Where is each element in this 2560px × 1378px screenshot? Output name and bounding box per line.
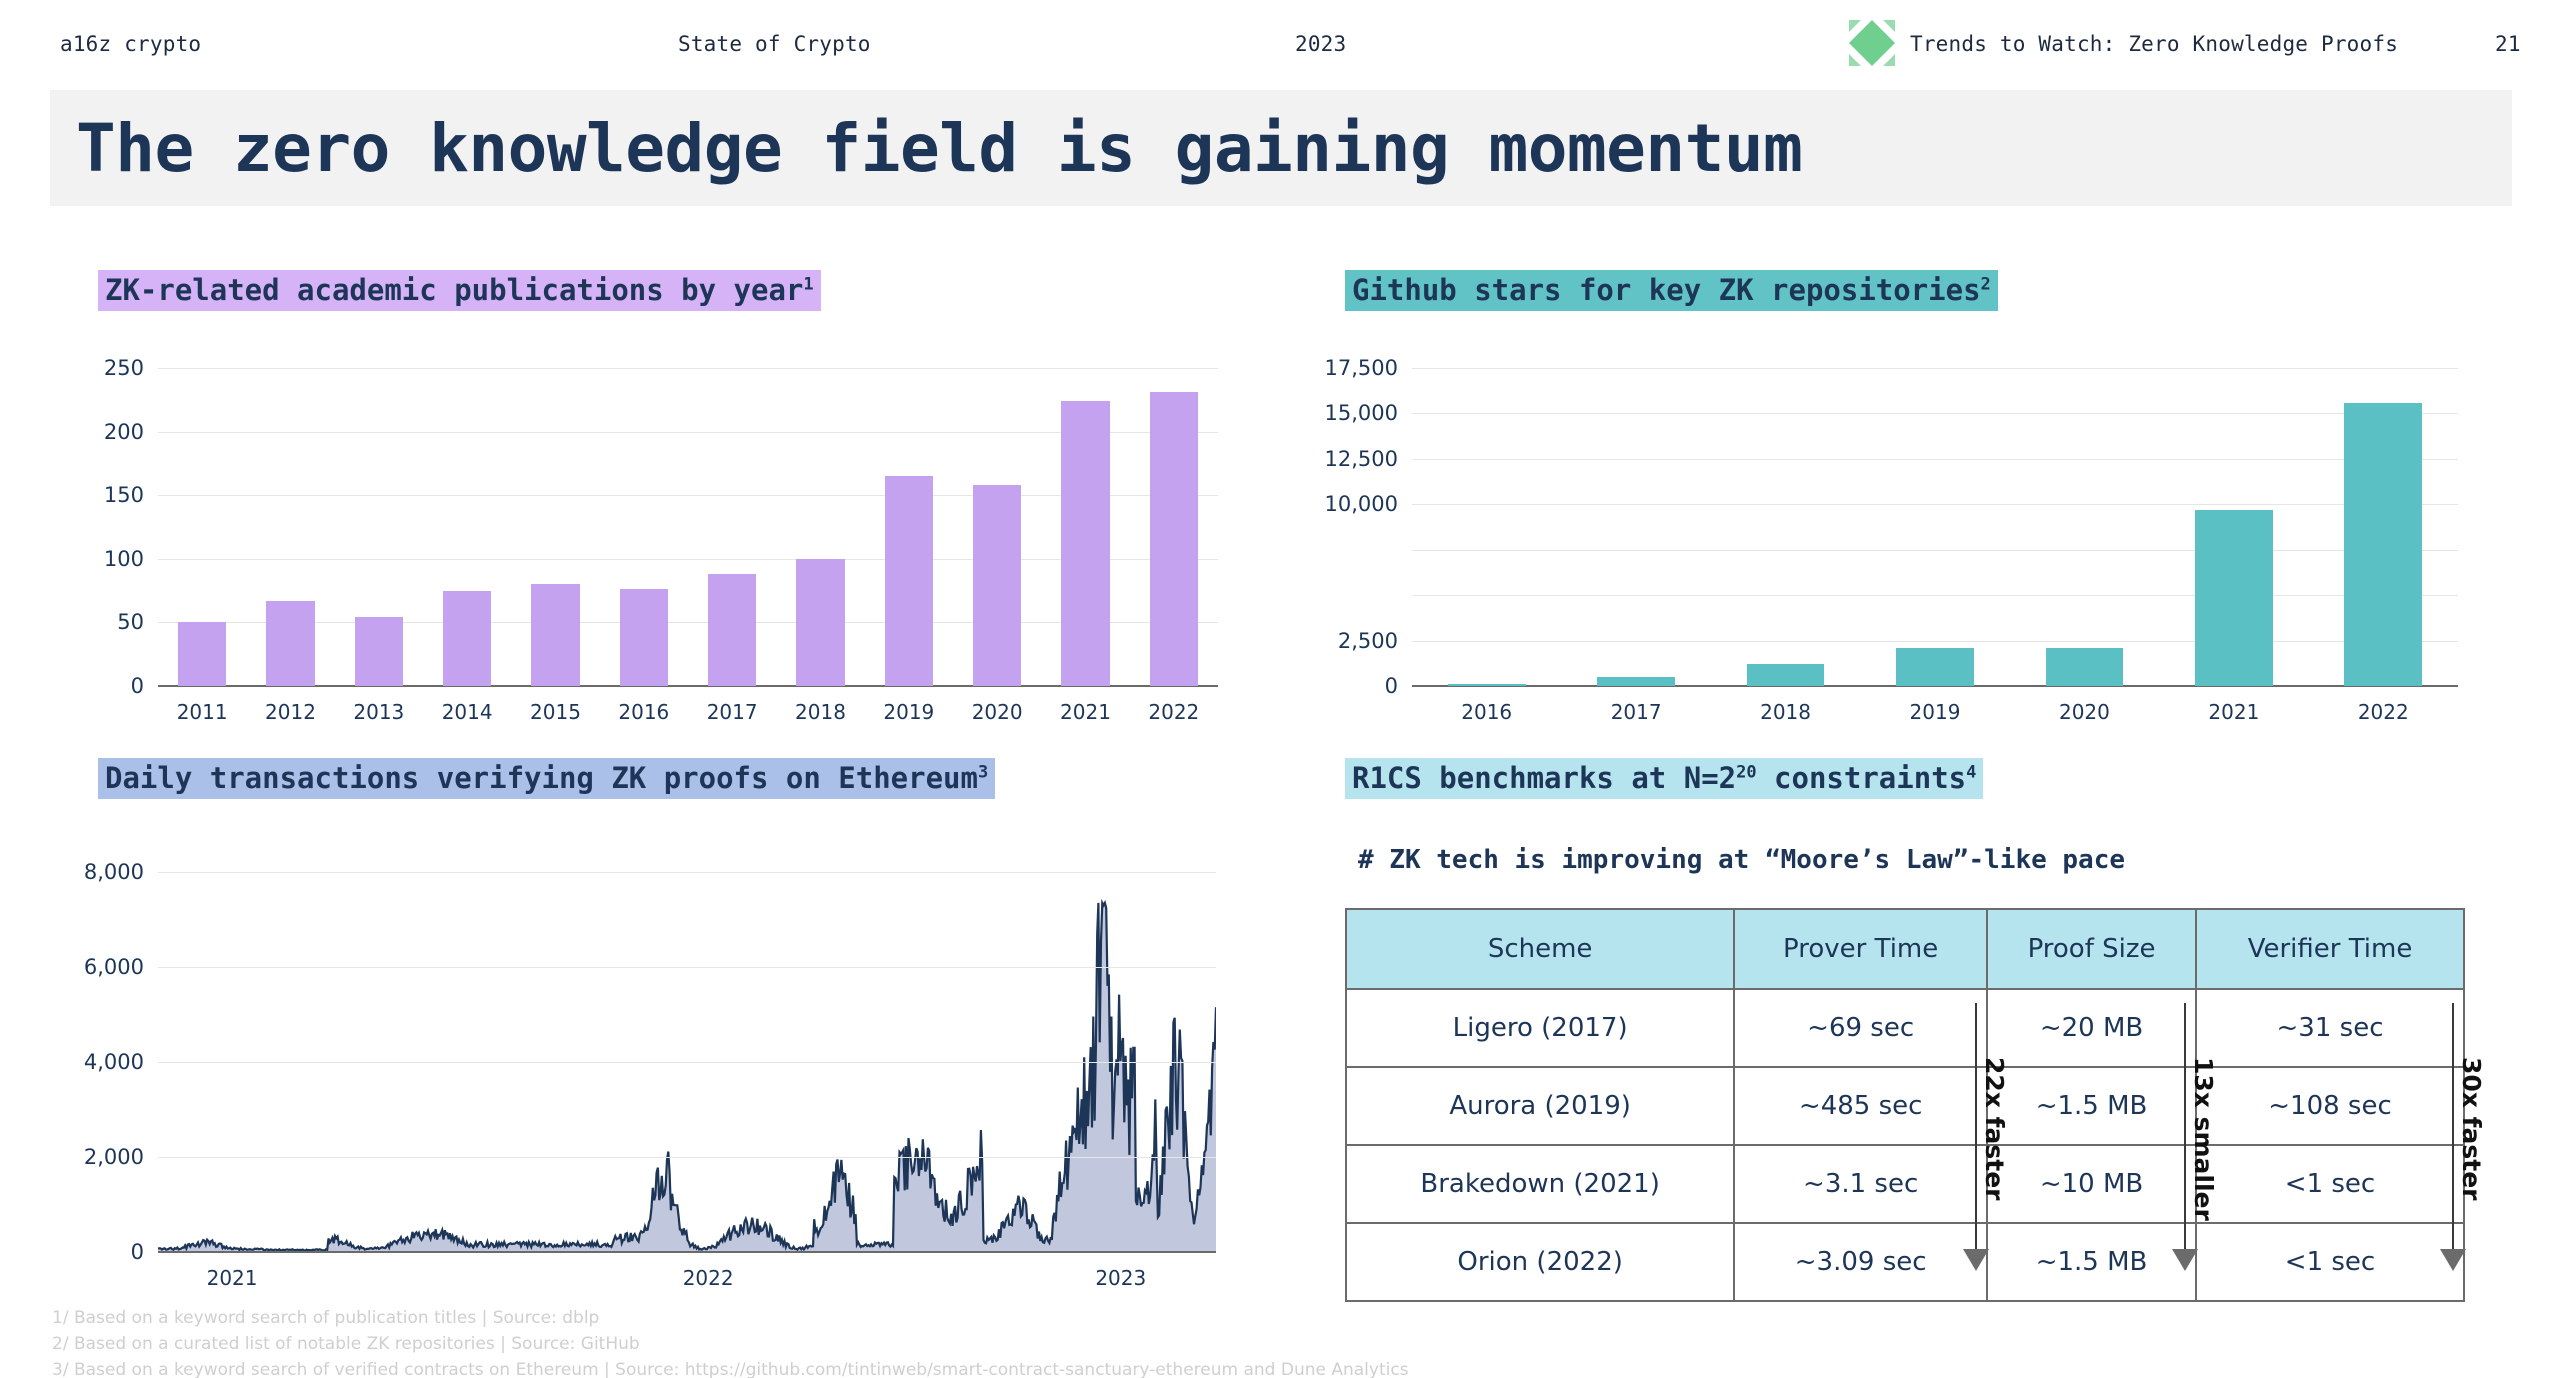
benchmark-table-body: Ligero (2017) ~69 sec ~20 MB ~31 sec Aur…	[1346, 989, 2464, 1301]
y-axis-tick-label: 250	[104, 356, 144, 380]
footnote-1: 1/ Based on a keyword search of publicat…	[52, 1306, 2512, 1332]
bar-2021	[1061, 401, 1110, 686]
gridline	[158, 872, 1216, 873]
bar-2019	[1896, 648, 1974, 686]
y-axis-tick-label: 0	[1385, 674, 1398, 698]
bar-2014	[443, 591, 492, 686]
footnote-marker-2: 2	[1981, 274, 1991, 294]
cell-proof-size: ~20 MB	[1987, 989, 2196, 1067]
bar-2016	[1448, 684, 1526, 686]
table-row: Ligero (2017) ~69 sec ~20 MB ~31 sec	[1346, 989, 2464, 1067]
cell-proof-size: ~1.5 MB	[1987, 1067, 2196, 1145]
cell-verifier-time: ~31 sec	[2196, 989, 2464, 1067]
x-axis-tick-label: 2023	[1095, 1266, 1146, 1290]
y-axis-tick-label: 2,500	[1338, 629, 1398, 653]
cell-proof-size: ~10 MB	[1987, 1145, 2196, 1223]
x-axis-line	[158, 685, 1218, 687]
table-caption: # ZK tech is improving at “Moore’s Law”-…	[1358, 845, 2125, 875]
gridline	[1412, 595, 2458, 596]
x-axis-tick-label: 2021	[207, 1266, 258, 1290]
plot-area-github-stars: 02,50010,00012,50015,00017,5002016201720…	[1412, 368, 2458, 686]
gridline	[158, 559, 1218, 560]
x-axis-tick-label: 2020	[972, 700, 1023, 724]
panel-title-r1cs-benchmarks: R1CS benchmarks at N=220 constraints4	[1345, 758, 1983, 799]
footnote-marker-3: 3	[978, 762, 988, 782]
table-row: Orion (2022) ~3.09 sec ~1.5 MB <1 sec	[1346, 1223, 2464, 1301]
column-header-verifier-time: Verifier Time	[2196, 909, 2464, 989]
panel-title-daily-transactions: Daily transactions verifying ZK proofs o…	[98, 758, 995, 799]
y-axis-tick-label: 12,500	[1325, 447, 1398, 471]
gridline	[158, 495, 1218, 496]
gridline	[158, 622, 1218, 623]
bar-2022	[1150, 392, 1199, 686]
y-axis-tick-label: 8,000	[84, 860, 144, 884]
y-axis-tick-label: 2,000	[84, 1145, 144, 1169]
x-axis-tick-label: 2017	[1611, 700, 1662, 724]
bar-2019	[885, 476, 934, 686]
y-axis-tick-label: 50	[117, 610, 144, 634]
panel-title-github-stars: Github stars for key ZK repositories2	[1345, 270, 1998, 311]
x-axis-tick-label: 2019	[1910, 700, 1961, 724]
bar-2020	[2046, 648, 2124, 686]
section-label: Trends to Watch: Zero Knowledge Proofs	[1910, 32, 2398, 56]
gridline	[158, 1062, 1216, 1063]
cell-verifier-time: ~108 sec	[2196, 1067, 2464, 1145]
bar-2021	[2195, 510, 2273, 686]
slide-title-band: The zero knowledge field is gaining mome…	[50, 90, 2512, 206]
cell-scheme: Ligero (2017)	[1346, 989, 1734, 1067]
page-title: The zero knowledge field is gaining mome…	[50, 110, 1802, 187]
x-axis-tick-label: 2018	[795, 700, 846, 724]
bar-2017	[708, 574, 757, 686]
bar-2020	[973, 485, 1022, 686]
column-header-prover-time: Prover Time	[1734, 909, 1987, 989]
cell-scheme: Orion (2022)	[1346, 1223, 1734, 1301]
r1cs-exponent: 20	[1736, 762, 1756, 782]
report-title-label: State of Crypto	[678, 32, 871, 56]
gridline	[1412, 459, 2458, 460]
cell-prover-time: ~69 sec	[1734, 989, 1987, 1067]
plot-area-publications: 0501001502002502011201220132014201520162…	[158, 368, 1218, 686]
plot-area-daily-transactions: 02,0004,0006,0008,000202120222023	[158, 872, 1216, 1252]
bar-2013	[355, 617, 404, 686]
x-axis-tick-label: 2015	[530, 700, 581, 724]
table-row: Aurora (2019) ~485 sec ~1.5 MB ~108 sec	[1346, 1067, 2464, 1145]
gridline	[1412, 550, 2458, 551]
x-axis-tick-label: 2016	[618, 700, 669, 724]
y-axis-tick-label: 4,000	[84, 1050, 144, 1074]
footnote-3: 3/ Based on a keyword search of verified…	[52, 1358, 2512, 1378]
x-axis-tick-label: 2012	[265, 700, 316, 724]
report-year-label: 2023	[1295, 32, 1346, 56]
cell-proof-size: ~1.5 MB	[1987, 1223, 2196, 1301]
x-axis-tick-label: 2016	[1461, 700, 1512, 724]
table-header-row: Scheme Prover Time Proof Size Verifier T…	[1346, 909, 2464, 989]
cell-prover-time: ~485 sec	[1734, 1067, 1987, 1145]
gridline	[1412, 641, 2458, 642]
panel-title-github-stars-text: Github stars for key ZK repositories	[1352, 273, 1981, 307]
panel-title-daily-transactions-text: Daily transactions verifying ZK proofs o…	[105, 761, 978, 795]
slide-header: a16z crypto State of Crypto 2023 Trends …	[0, 0, 2560, 88]
benchmark-table: Scheme Prover Time Proof Size Verifier T…	[1345, 908, 2465, 1302]
x-axis-tick-label: 2022	[2358, 700, 2409, 724]
footnote-2: 2/ Based on a curated list of notable ZK…	[52, 1332, 2512, 1358]
y-axis-tick-label: 0	[131, 674, 144, 698]
bar-2017	[1597, 677, 1675, 686]
gridline	[158, 432, 1218, 433]
x-axis-tick-label: 2021	[1060, 700, 1111, 724]
benchmark-table-head: Scheme Prover Time Proof Size Verifier T…	[1346, 909, 2464, 989]
x-axis-tick-label: 2013	[353, 700, 404, 724]
y-axis-tick-label: 0	[131, 1240, 144, 1264]
y-axis-tick-label: 200	[104, 420, 144, 444]
area-line	[158, 903, 1216, 1251]
column-header-scheme: Scheme	[1346, 909, 1734, 989]
bar-2011	[178, 622, 227, 686]
column-header-proof-size: Proof Size	[1987, 909, 2196, 989]
x-axis-tick-label: 2011	[177, 700, 228, 724]
x-axis-tick-label: 2019	[883, 700, 934, 724]
y-axis-tick-label: 150	[104, 483, 144, 507]
bar-2015	[531, 584, 580, 686]
x-axis-tick-label: 2022	[683, 1266, 734, 1290]
bar-2018	[1747, 664, 1825, 686]
cell-prover-time: ~3.1 sec	[1734, 1145, 1987, 1223]
x-axis-tick-label: 2018	[1760, 700, 1811, 724]
gridline	[158, 368, 1218, 369]
y-axis-tick-label: 100	[104, 547, 144, 571]
bar-2012	[266, 601, 315, 686]
panel-title-publications: ZK-related academic publications by year…	[98, 270, 821, 311]
y-axis-tick-label: 10,000	[1325, 492, 1398, 516]
cell-prover-time: ~3.09 sec	[1734, 1223, 1987, 1301]
x-axis-tick-label: 2022	[1148, 700, 1199, 724]
cell-scheme: Brakedown (2021)	[1346, 1145, 1734, 1223]
bar-2016	[620, 589, 669, 686]
a16z-diamond-logo-icon	[1845, 16, 1899, 70]
page-number: 21	[2495, 32, 2521, 56]
cell-verifier-time: <1 sec	[2196, 1223, 2464, 1301]
x-axis-tick-label: 2014	[442, 700, 493, 724]
y-axis-tick-label: 6,000	[84, 955, 144, 979]
gridline	[158, 1157, 1216, 1158]
y-axis-tick-label: 15,000	[1325, 401, 1398, 425]
panel-title-r1cs-tail: constraints	[1757, 761, 1967, 795]
panel-title-r1cs-text: R1CS benchmarks at N=2	[1352, 761, 1736, 795]
footnote-marker-4: 4	[1966, 762, 1976, 782]
gridline	[1412, 413, 2458, 414]
footnote-marker-1: 1	[803, 274, 813, 294]
cell-scheme: Aurora (2019)	[1346, 1067, 1734, 1145]
gridline	[1412, 368, 2458, 369]
x-axis-tick-label: 2021	[2208, 700, 2259, 724]
brand-label: a16z crypto	[60, 32, 201, 56]
bar-2022	[2344, 403, 2422, 686]
gridline	[1412, 504, 2458, 505]
x-axis-tick-label: 2017	[707, 700, 758, 724]
x-axis-line	[158, 1251, 1216, 1253]
gridline	[158, 967, 1216, 968]
footnotes-block: 1/ Based on a keyword search of publicat…	[52, 1306, 2512, 1378]
panel-title-publications-text: ZK-related academic publications by year	[105, 273, 803, 307]
slide-root: a16z crypto State of Crypto 2023 Trends …	[0, 0, 2560, 1378]
y-axis-tick-label: 17,500	[1325, 356, 1398, 380]
x-axis-tick-label: 2020	[2059, 700, 2110, 724]
cell-verifier-time: <1 sec	[2196, 1145, 2464, 1223]
bar-2018	[796, 559, 845, 686]
table-row: Brakedown (2021) ~3.1 sec ~10 MB <1 sec	[1346, 1145, 2464, 1223]
